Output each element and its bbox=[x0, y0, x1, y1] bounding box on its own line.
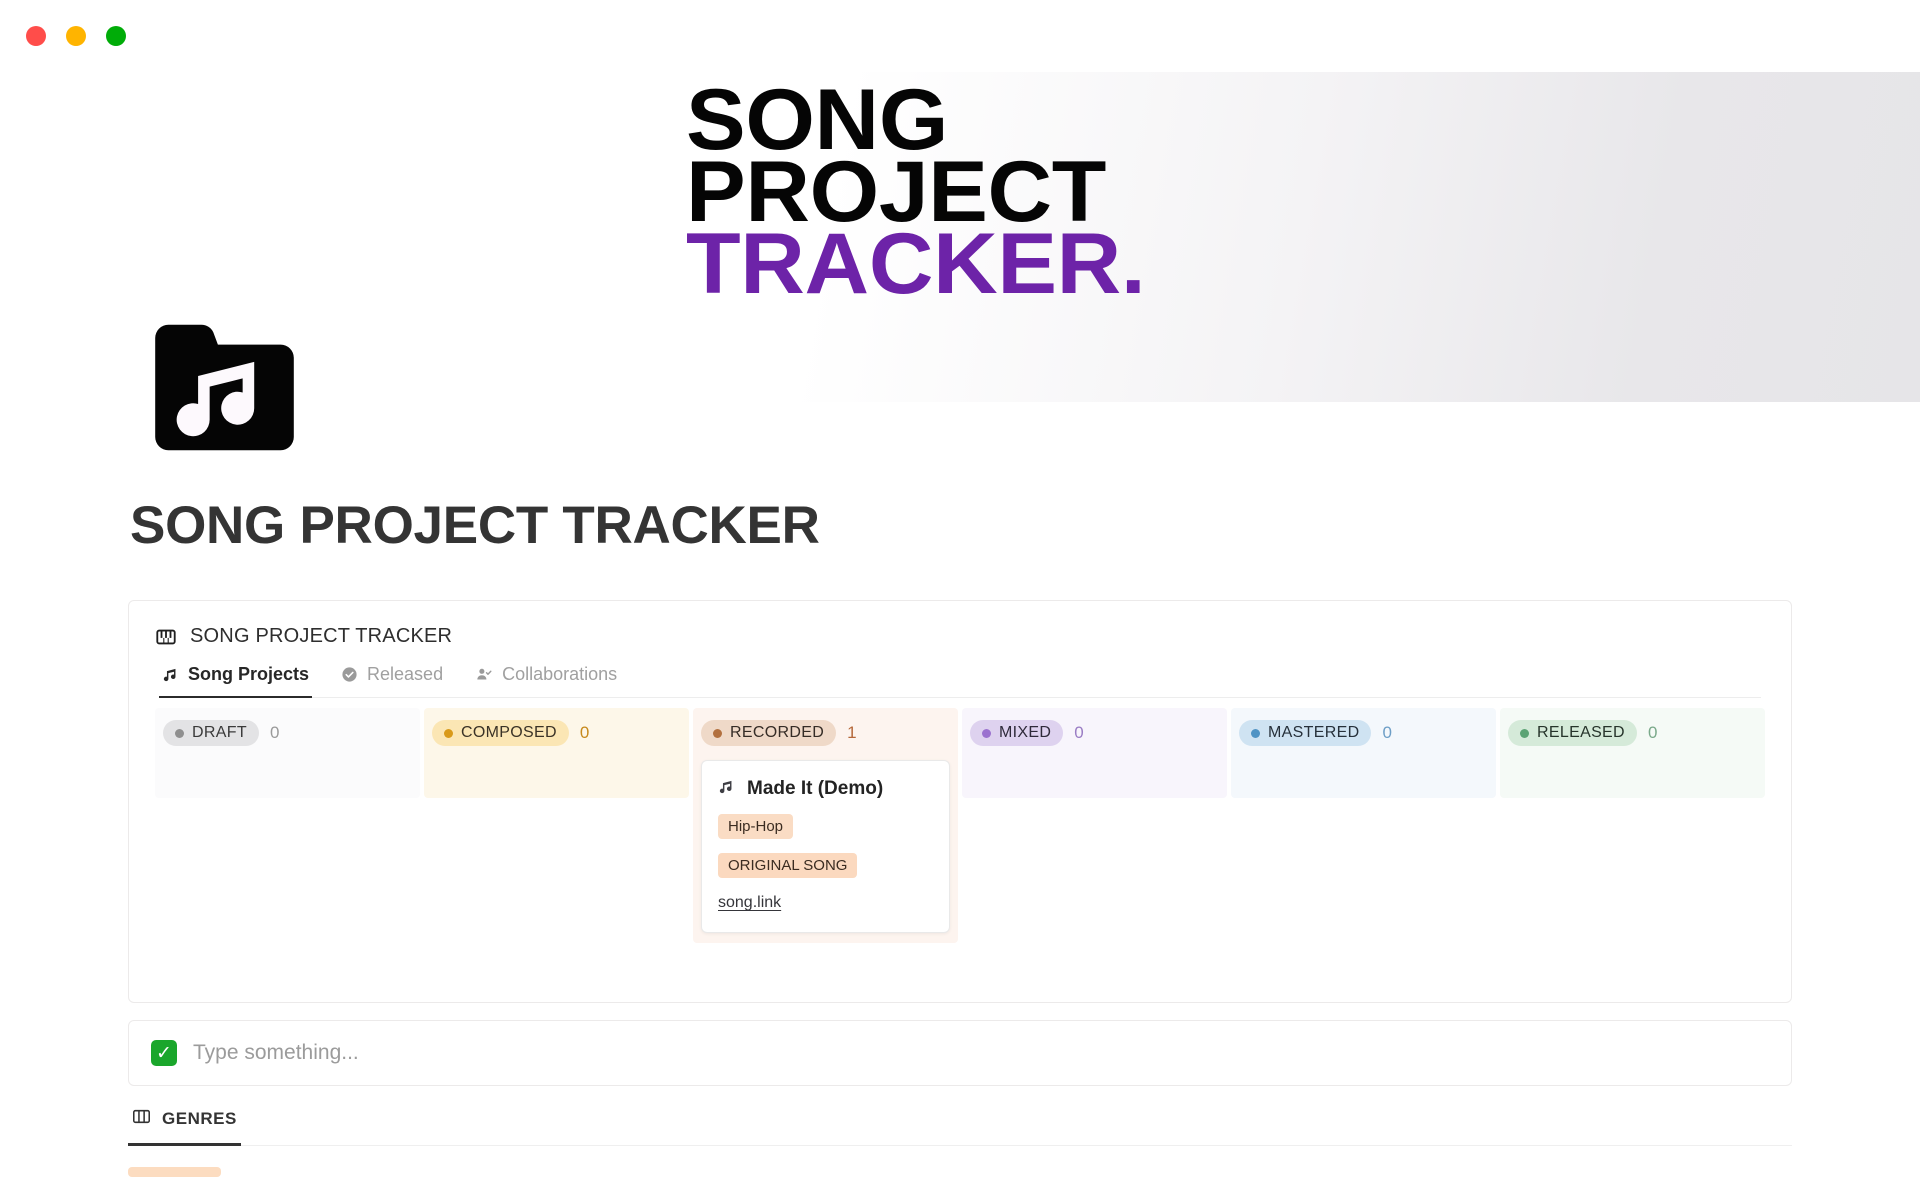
piano-icon bbox=[155, 626, 177, 648]
status-badge[interactable]: DRAFT bbox=[163, 720, 259, 746]
green-check-emoji-icon: ✓ bbox=[151, 1040, 177, 1066]
database-header: SONG PROJECT TRACKER bbox=[129, 601, 1791, 648]
status-dot-icon bbox=[713, 729, 722, 738]
column-cards bbox=[432, 760, 681, 788]
board-column-draft: DRAFT 0 bbox=[155, 708, 420, 798]
board-column-composed: COMPOSED 0 bbox=[424, 708, 689, 798]
status-dot-icon bbox=[982, 729, 991, 738]
minimize-button[interactable] bbox=[66, 26, 86, 46]
database-block: SONG PROJECT TRACKER Song Projects Relea… bbox=[128, 600, 1792, 1003]
column-count: 1 bbox=[847, 723, 856, 743]
status-dot-icon bbox=[444, 729, 453, 738]
card-tag-genre[interactable]: Hip-Hop bbox=[718, 814, 793, 839]
composer-input-placeholder[interactable]: Type something... bbox=[193, 1041, 359, 1065]
maximize-button[interactable] bbox=[106, 26, 126, 46]
cover-line-3: TRACKER. bbox=[686, 228, 1145, 300]
status-label: COMPOSED bbox=[461, 724, 557, 742]
column-header: MIXED 0 bbox=[970, 720, 1219, 746]
music-note-icon bbox=[162, 666, 179, 683]
status-dot-icon bbox=[1251, 729, 1260, 738]
tab-released[interactable]: Released bbox=[338, 664, 446, 698]
status-label: DRAFT bbox=[192, 724, 247, 742]
column-cards bbox=[163, 760, 412, 788]
column-header: MASTERED 0 bbox=[1239, 720, 1488, 746]
card-title: Made It (Demo) bbox=[747, 778, 883, 800]
board: DRAFT 0 COMPOSED 0 RECORDED bbox=[129, 708, 1791, 943]
board-column-mixed: MIXED 0 bbox=[962, 708, 1227, 798]
column-cards bbox=[970, 760, 1219, 788]
tab-released-label: Released bbox=[367, 664, 443, 685]
card-tag-type-wrap: ORIGINAL SONG bbox=[718, 839, 933, 878]
status-badge[interactable]: MASTERED bbox=[1239, 720, 1371, 746]
tab-song-projects-label: Song Projects bbox=[188, 664, 309, 685]
tab-collaborations-label: Collaborations bbox=[502, 664, 617, 685]
tab-collaborations[interactable]: Collaborations bbox=[472, 664, 620, 698]
column-count: 0 bbox=[1648, 723, 1657, 743]
tab-song-projects[interactable]: Song Projects bbox=[159, 664, 312, 698]
database-tabs: Song Projects Released Collaborations bbox=[159, 664, 1761, 698]
columns-icon bbox=[132, 1108, 151, 1130]
column-cards: Made It (Demo) Hip-Hop ORIGINAL SONG son… bbox=[701, 760, 950, 933]
column-count: 0 bbox=[270, 723, 279, 743]
composer-row[interactable]: ✓ Type something... bbox=[128, 1020, 1792, 1086]
status-badge[interactable]: RELEASED bbox=[1508, 720, 1637, 746]
column-header: COMPOSED 0 bbox=[432, 720, 681, 746]
user-check-icon bbox=[475, 666, 493, 683]
column-count: 0 bbox=[580, 723, 589, 743]
status-dot-icon bbox=[1520, 729, 1529, 738]
status-badge[interactable]: MIXED bbox=[970, 720, 1063, 746]
card-tag-type[interactable]: ORIGINAL SONG bbox=[718, 853, 857, 878]
traffic-lights bbox=[26, 26, 126, 46]
tab-genres-label: GENRES bbox=[162, 1109, 237, 1129]
status-label: RECORDED bbox=[730, 724, 824, 742]
card-title-row: Made It (Demo) bbox=[718, 778, 933, 800]
database-title: SONG PROJECT TRACKER bbox=[190, 625, 452, 648]
genres-section: GENRES bbox=[128, 1108, 1792, 1182]
column-header: RECORDED 1 bbox=[701, 720, 950, 746]
genre-chip-row bbox=[128, 1164, 1792, 1182]
card-tag-genre-wrap: Hip-Hop bbox=[718, 800, 933, 839]
cover-wordmark: SONG PROJECT TRACKER. bbox=[686, 84, 1128, 301]
tab-genres[interactable]: GENRES bbox=[128, 1108, 241, 1146]
page-title: SONG PROJECT TRACKER bbox=[130, 495, 1830, 556]
column-cards bbox=[1239, 760, 1488, 788]
cover-banner: SONG PROJECT TRACKER. bbox=[531, 72, 1920, 402]
check-circle-icon bbox=[341, 666, 358, 683]
column-count: 0 bbox=[1382, 723, 1391, 743]
music-folder-icon[interactable] bbox=[142, 305, 307, 470]
genre-chip[interactable] bbox=[128, 1167, 221, 1177]
status-label: MIXED bbox=[999, 724, 1051, 742]
genres-tabbar: GENRES bbox=[128, 1108, 1792, 1146]
board-card[interactable]: Made It (Demo) Hip-Hop ORIGINAL SONG son… bbox=[701, 760, 950, 933]
music-note-icon bbox=[718, 778, 735, 800]
status-badge[interactable]: RECORDED bbox=[701, 720, 836, 746]
status-dot-icon bbox=[175, 729, 184, 738]
window-chrome bbox=[0, 0, 1920, 72]
column-cards bbox=[1508, 760, 1757, 788]
column-header: DRAFT 0 bbox=[163, 720, 412, 746]
card-link[interactable]: song.link bbox=[718, 894, 933, 912]
board-column-released: RELEASED 0 bbox=[1500, 708, 1765, 798]
column-header: RELEASED 0 bbox=[1508, 720, 1757, 746]
status-label: MASTERED bbox=[1268, 724, 1359, 742]
status-label: RELEASED bbox=[1537, 724, 1625, 742]
board-column-recorded: RECORDED 1 Made It (Demo) Hip- bbox=[693, 708, 958, 943]
board-column-mastered: MASTERED 0 bbox=[1231, 708, 1496, 798]
close-button[interactable] bbox=[26, 26, 46, 46]
status-badge[interactable]: COMPOSED bbox=[432, 720, 569, 746]
column-count: 0 bbox=[1074, 723, 1083, 743]
